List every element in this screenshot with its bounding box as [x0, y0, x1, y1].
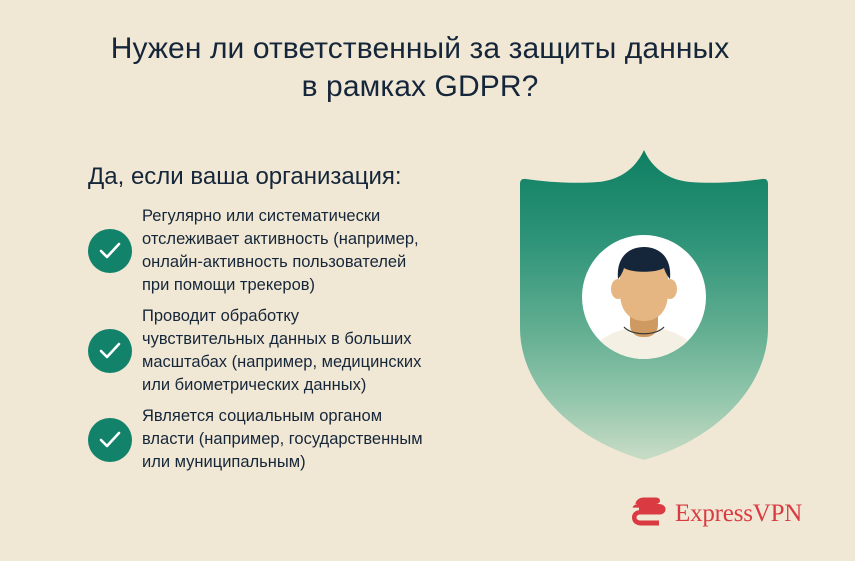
list-item-text: Проводит обработку чувствительных данных…	[142, 305, 421, 397]
page-title: Нужен ли ответственный за защиты данных …	[110, 30, 730, 106]
expressvpn-logo: ExpressVPN	[632, 496, 802, 531]
infographic-canvas: Нужен ли ответственный за защиты данных …	[0, 0, 855, 561]
list-item-text: Регулярно или систематически отслеживает…	[142, 205, 419, 297]
list-item: Регулярно или систематически отслеживает…	[88, 205, 518, 297]
subtitle: Да, если ваша организация:	[88, 162, 402, 192]
check-icon	[88, 329, 132, 373]
check-icon	[88, 229, 132, 273]
avatar	[582, 235, 706, 359]
shield-illustration	[516, 146, 772, 464]
list-item-text: Является социальным органом власти (напр…	[142, 405, 423, 474]
expressvpn-logo-mark	[632, 496, 666, 531]
list-item: Проводит обработку чувствительных данных…	[88, 305, 518, 397]
expressvpn-wordmark: ExpressVPN	[675, 500, 802, 528]
check-icon	[88, 418, 132, 462]
checklist: Регулярно или систематически отслеживает…	[88, 205, 518, 482]
list-item: Является социальным органом власти (напр…	[88, 405, 518, 474]
